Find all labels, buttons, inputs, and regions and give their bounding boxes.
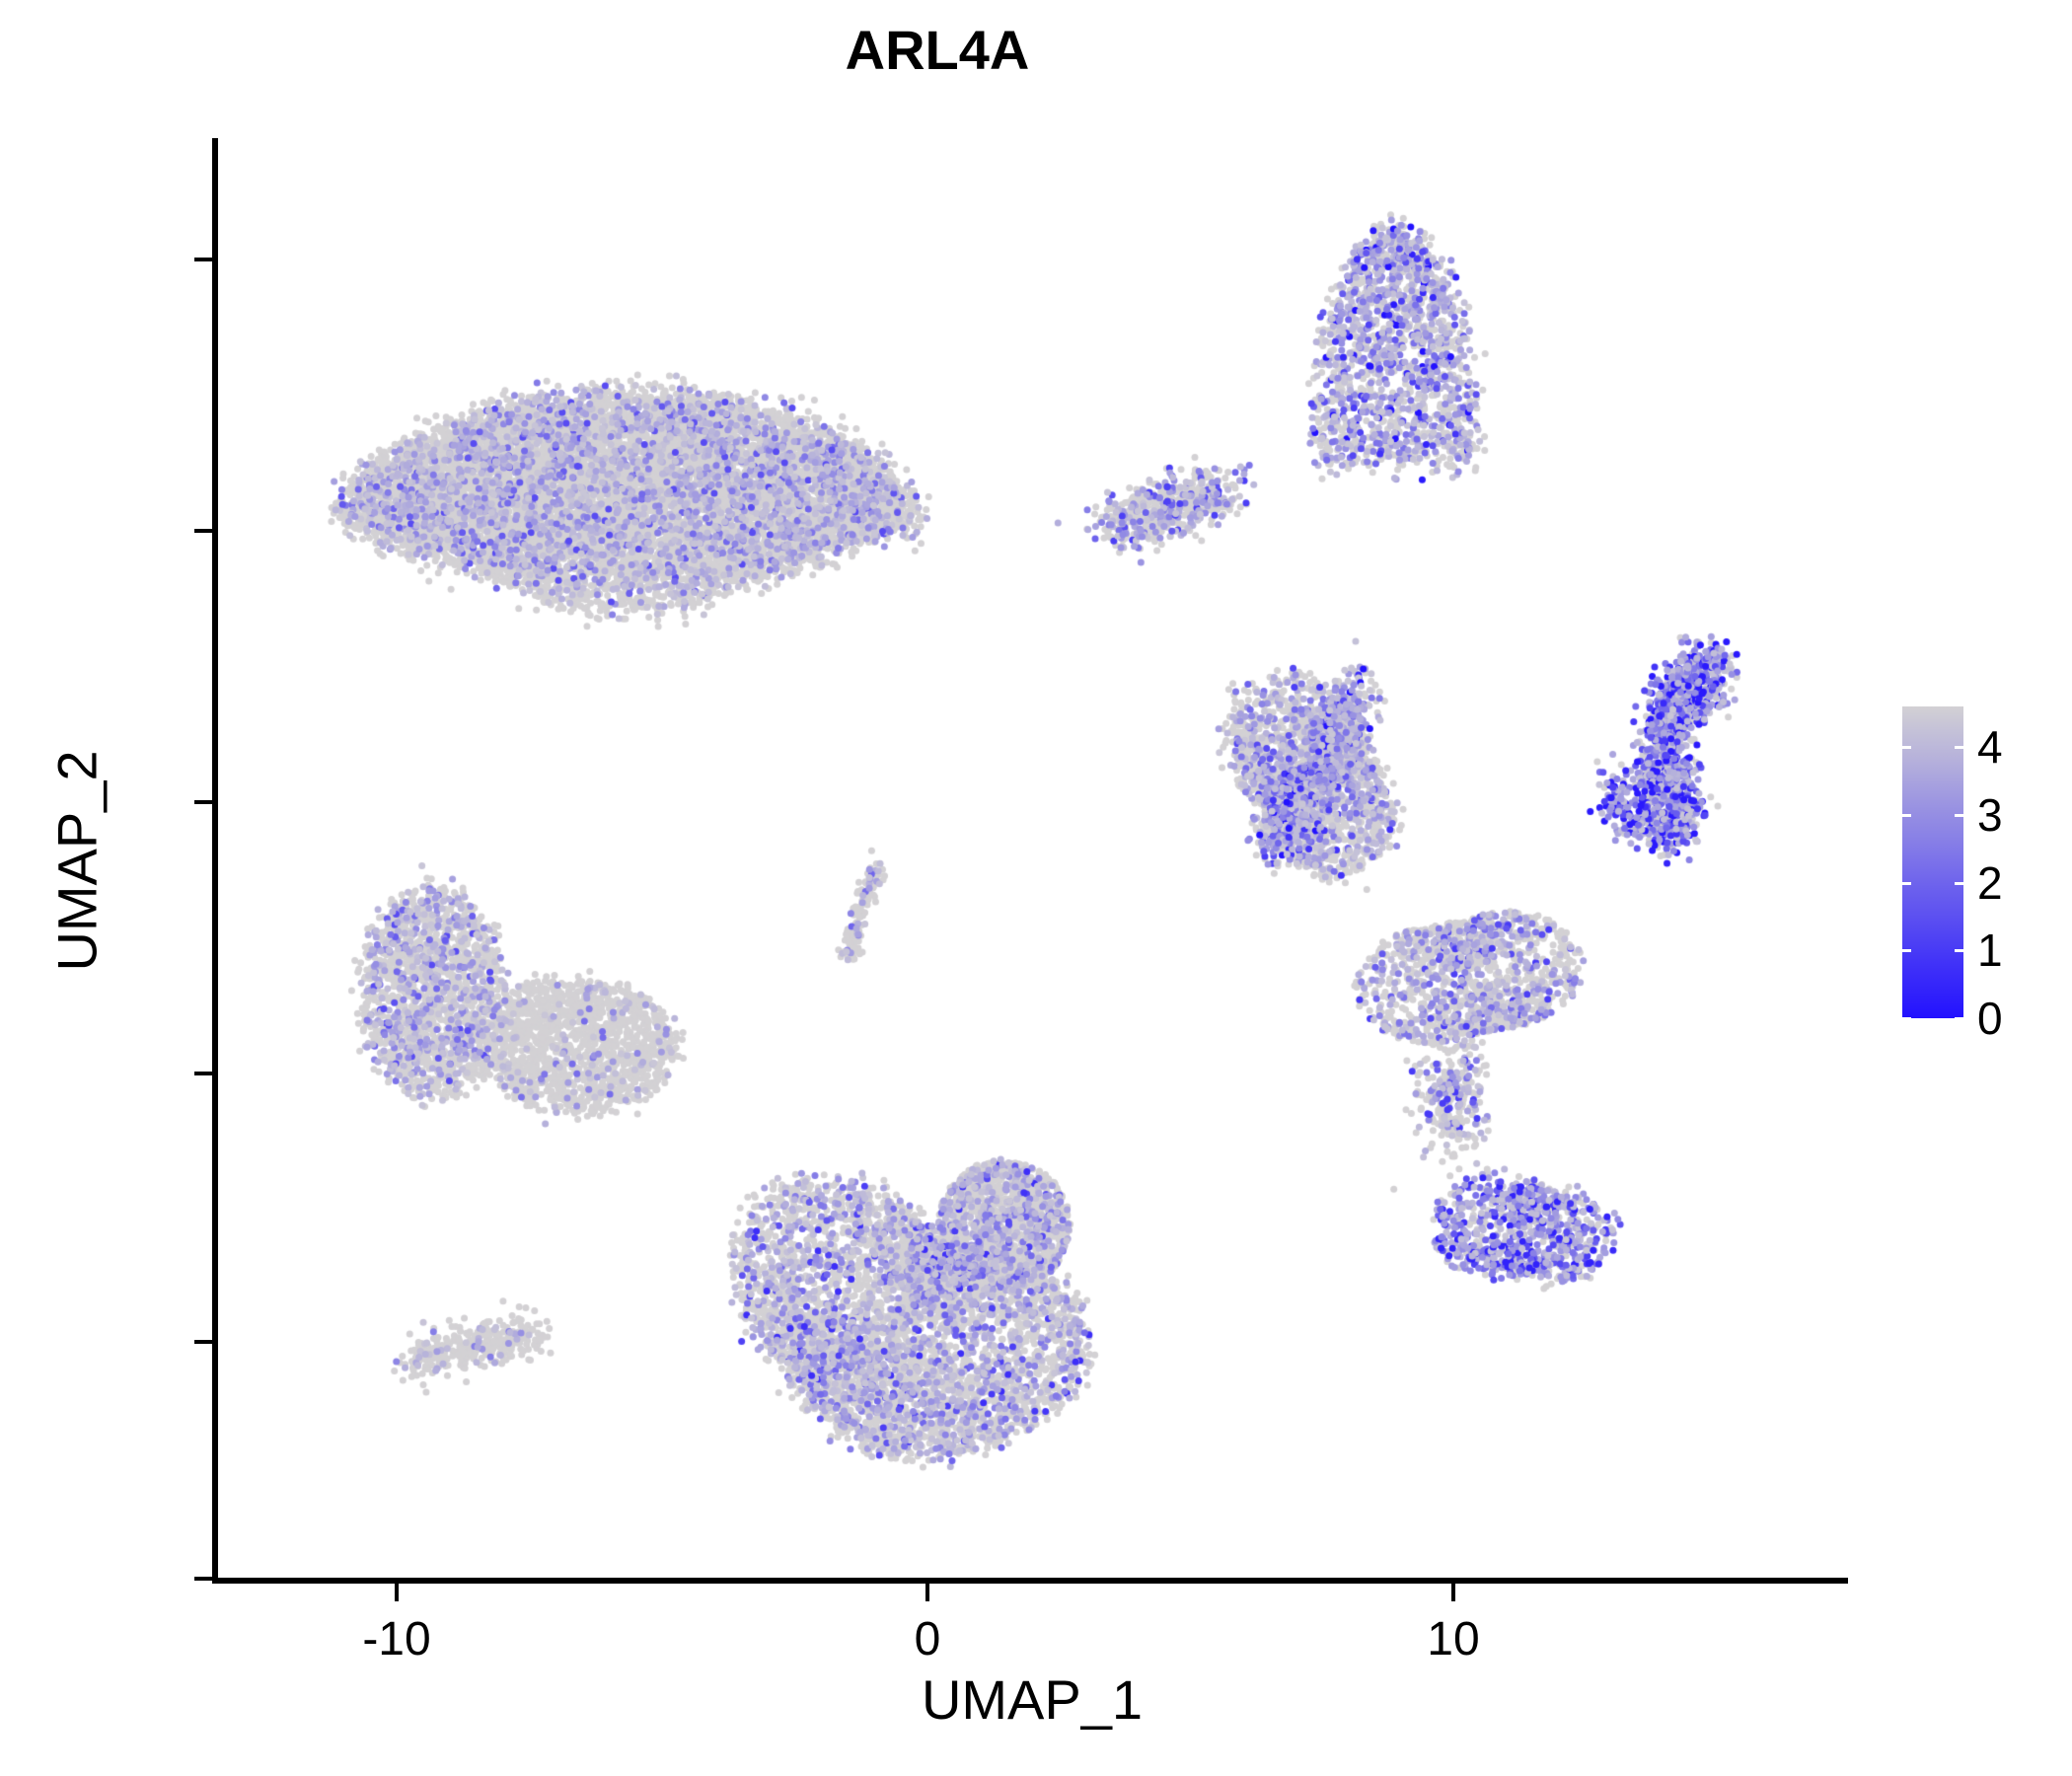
- x-axis-line: [212, 1578, 1848, 1584]
- x-tick-label: 10: [1355, 1612, 1552, 1666]
- color-legend-label: 3: [1977, 792, 2003, 838]
- x-tick-mark: [925, 1584, 929, 1601]
- y-tick-mark: [194, 1340, 212, 1344]
- color-legend-tick: [1955, 882, 1963, 885]
- y-tick-mark: [194, 800, 212, 804]
- color-legend-gradient-bar: [1902, 706, 1963, 1018]
- umap-feature-plot: ARL4A 1050-5-10-15 -10010 UMAP_1 UMAP_2 …: [0, 0, 2072, 1776]
- x-tick-mark: [395, 1584, 399, 1601]
- y-tick-mark: [194, 1072, 212, 1075]
- color-legend-tick: [1902, 814, 1911, 817]
- color-legend-label: 2: [1977, 860, 2003, 906]
- color-legend-tick: [1902, 746, 1911, 749]
- color-legend-tick: [1955, 746, 1963, 749]
- color-legend-tick: [1955, 1017, 1963, 1020]
- color-legend-tick: [1902, 949, 1911, 952]
- color-legend-tick: [1955, 814, 1963, 817]
- color-legend-tick: [1902, 882, 1911, 885]
- y-tick-mark: [194, 258, 212, 261]
- color-legend-label: 0: [1977, 996, 2003, 1041]
- scatter-plot-canvas: [216, 138, 1848, 1581]
- color-legend-tick: [1902, 1017, 1911, 1020]
- y-axis-line: [212, 138, 218, 1584]
- x-tick-label: -10: [298, 1612, 495, 1666]
- color-legend-label: 4: [1977, 724, 2003, 770]
- y-tick-mark: [194, 1577, 212, 1581]
- x-tick-mark: [1451, 1584, 1455, 1601]
- plot-panel: [216, 138, 1848, 1581]
- page-title: ARL4A: [0, 18, 1875, 82]
- color-legend-label: 1: [1977, 927, 2003, 973]
- color-legend: 43210: [1902, 706, 2050, 1022]
- y-tick-mark: [194, 529, 212, 533]
- y-axis-title: UMAP_2: [45, 467, 110, 1256]
- x-tick-label: 0: [829, 1612, 1026, 1666]
- color-legend-tick: [1955, 949, 1963, 952]
- x-axis-title: UMAP_1: [216, 1667, 1848, 1732]
